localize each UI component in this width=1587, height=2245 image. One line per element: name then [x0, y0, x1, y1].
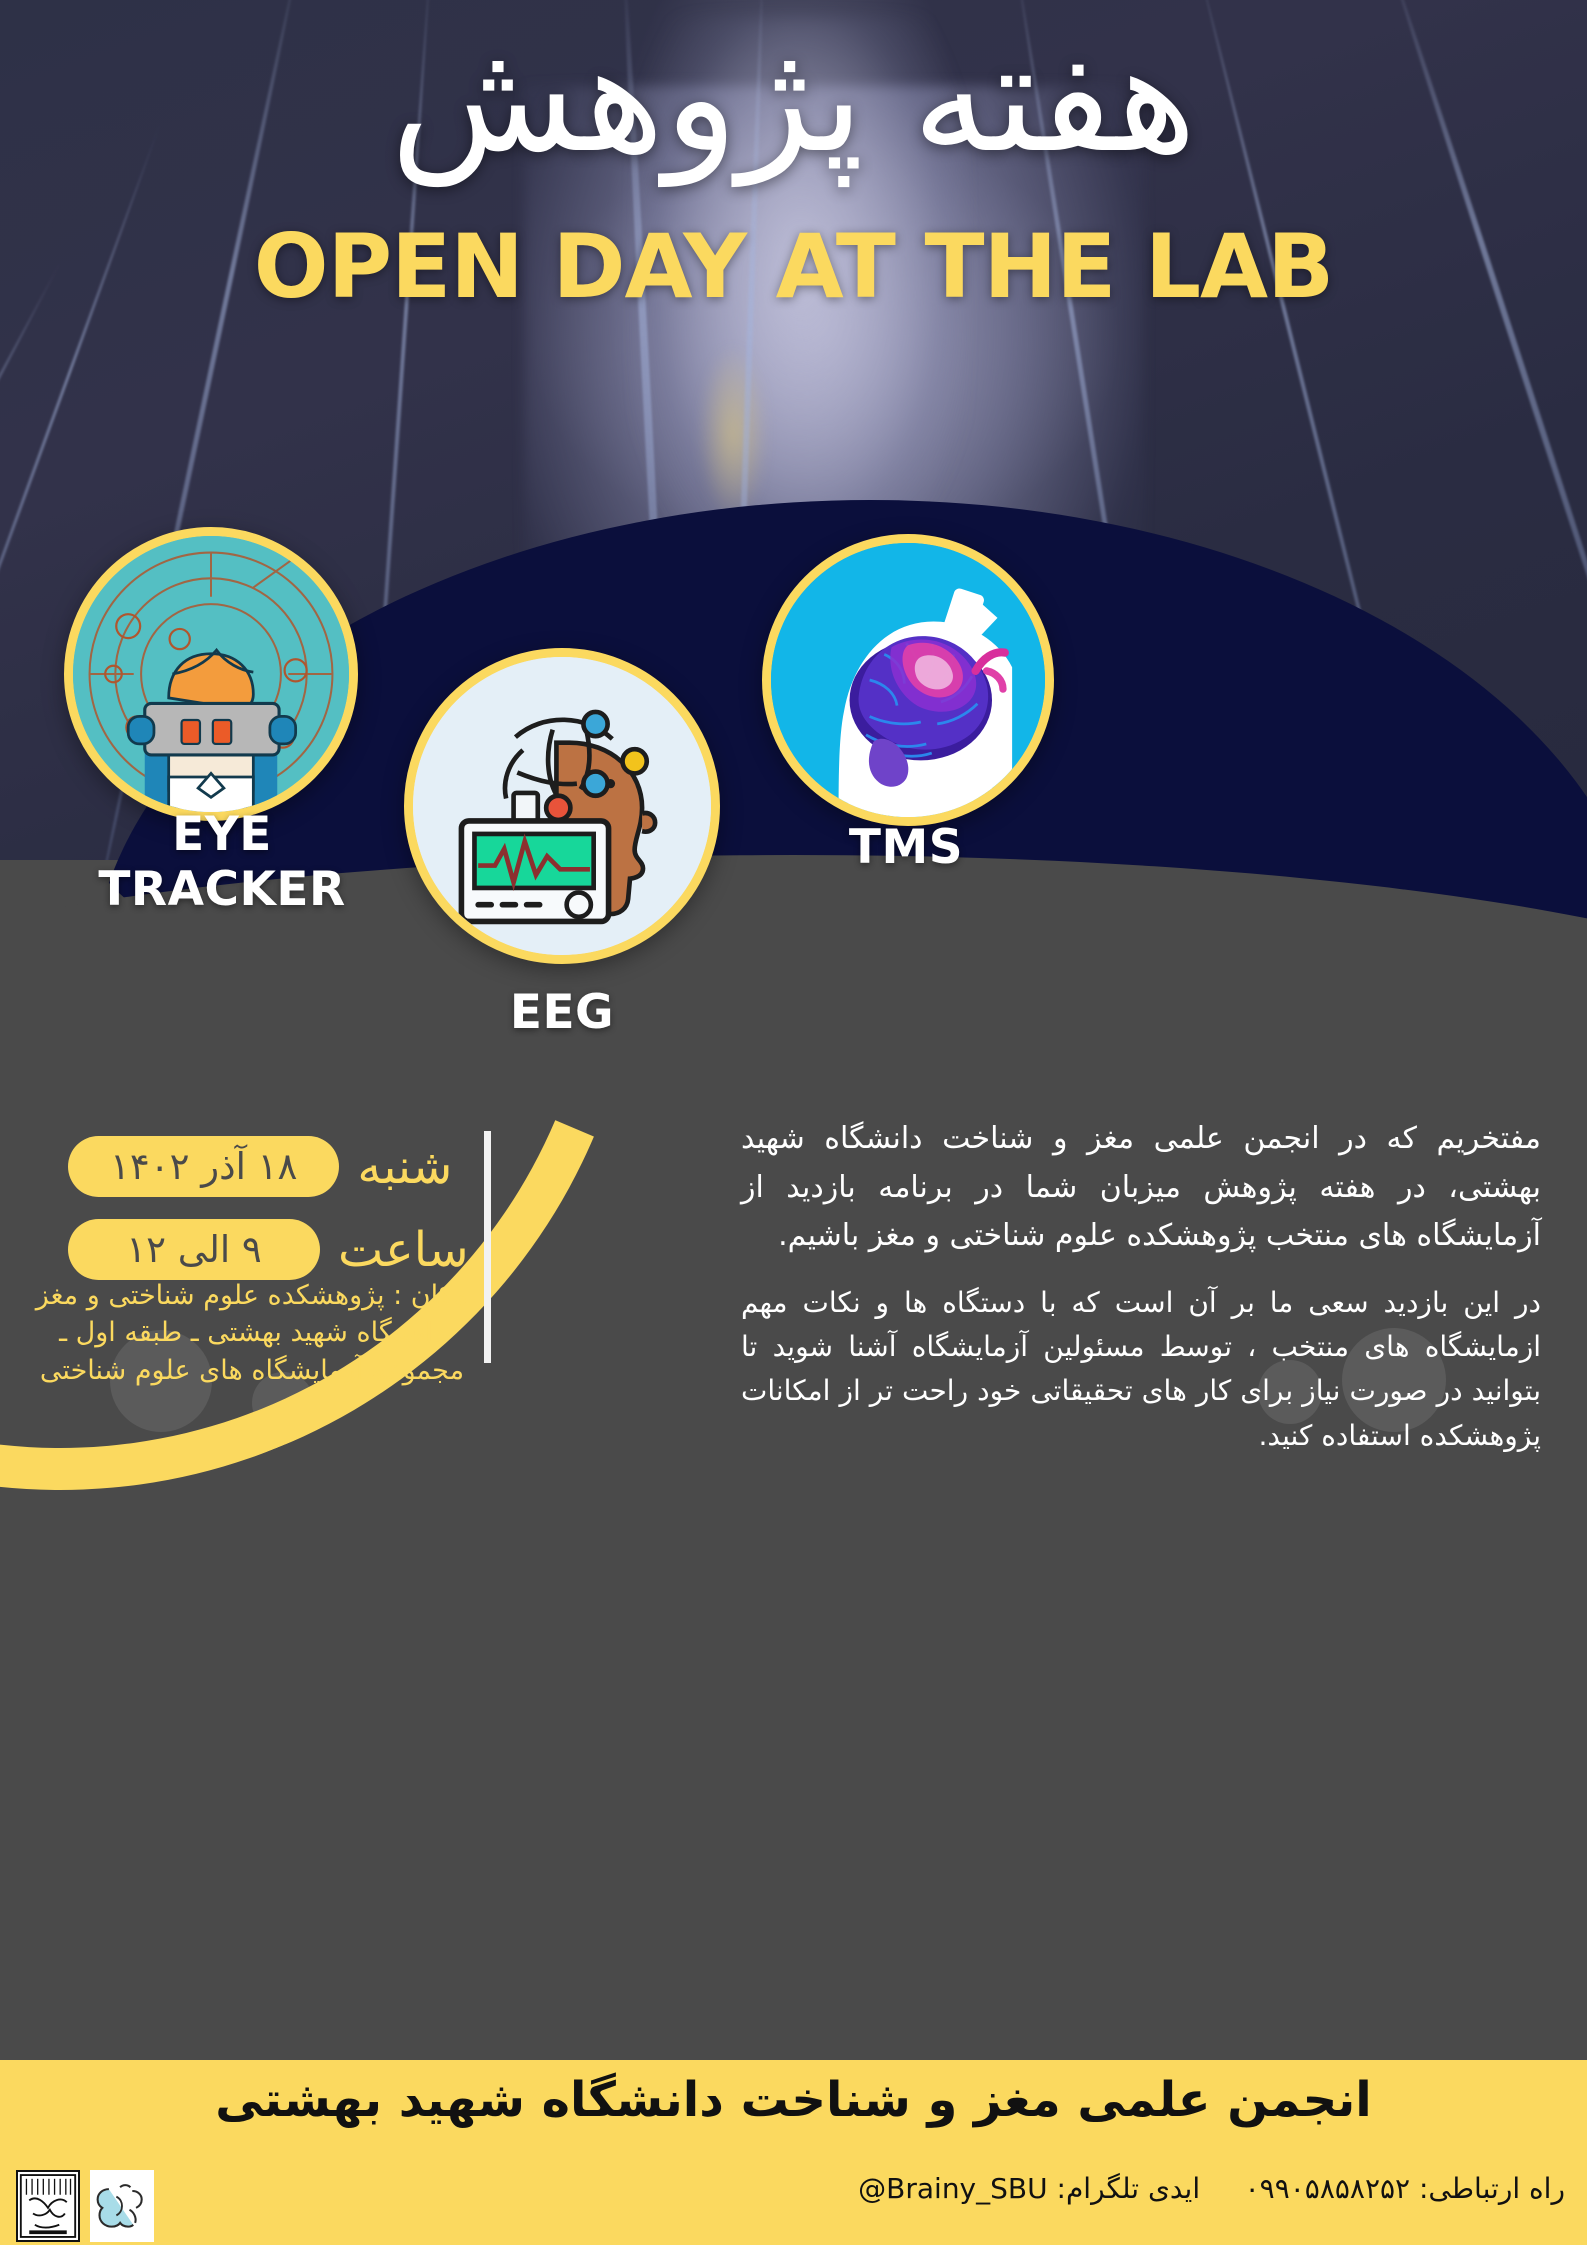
page-title-persian: هفته پژوهش	[0, 22, 1587, 174]
footer-banner: انجمن علمی مغز و شناخت دانشگاه شهید بهشت…	[0, 2060, 1587, 2245]
organization-name: انجمن علمی مغز و شناخت دانشگاه شهید بهشت…	[0, 2072, 1587, 2128]
poster-root: هفته پژوهش OPEN DAY AT THE LAB	[0, 0, 1587, 2245]
column-divider	[484, 1131, 491, 1363]
telegram-label: ایدی تلگرام:	[1057, 2172, 1201, 2205]
contact-label: راه ارتباطی:	[1419, 2172, 1565, 2205]
event-time-row: ساعت ۹ الی ۱۲	[68, 1219, 468, 1280]
badge-label-tms: TMS	[760, 820, 1052, 875]
body-paragraph-1: مفتخریم که در انجمن علمی مغز و شناخت دان…	[741, 1115, 1541, 1261]
eeg-icon	[413, 657, 711, 955]
badge-label-eye-tracker: EYE TRACKER	[72, 807, 372, 917]
event-venue-text: مکان : پژوهشکده علوم شناختی و مغز دانشگا…	[28, 1277, 476, 1389]
event-day-row: شنبه ۱۸ آذر ۱۴۰۲	[68, 1136, 468, 1197]
badge-eeg	[404, 648, 720, 964]
brain-logo-icon	[92, 2172, 152, 2240]
sbu-logo-icon	[18, 2172, 78, 2240]
page-title-english: OPEN DAY AT THE LAB	[0, 215, 1587, 318]
badge-label-eeg: EEG	[404, 985, 720, 1040]
body-paragraph-2: در این بازدید سعی ما بر آن است که با دست…	[741, 1281, 1541, 1458]
neuron-glow	[698, 344, 768, 524]
event-date-pill: ۱۸ آذر ۱۴۰۲	[68, 1136, 339, 1197]
footer-contact-info: راه ارتباطی: ۰۹۹۰۵۸۵۸۲۵۲ ایدی تلگرام: @B…	[858, 2172, 1565, 2205]
badge-eye-tracker	[64, 527, 358, 821]
event-day-label: شنبه	[339, 1139, 452, 1195]
badge-tms	[762, 534, 1054, 826]
event-time-label: ساعت	[320, 1222, 469, 1278]
event-time-pill: ۹ الی ۱۲	[68, 1219, 320, 1280]
sbu-university-logo	[16, 2170, 80, 2242]
eye-tracker-icon	[73, 536, 349, 812]
contact-phone: ۰۹۹۰۵۸۵۸۲۵۲	[1245, 2172, 1410, 2205]
brainy-sbu-logo	[90, 2170, 154, 2242]
telegram-handle[interactable]: @Brainy_SBU	[858, 2172, 1047, 2205]
tms-icon	[771, 543, 1045, 817]
